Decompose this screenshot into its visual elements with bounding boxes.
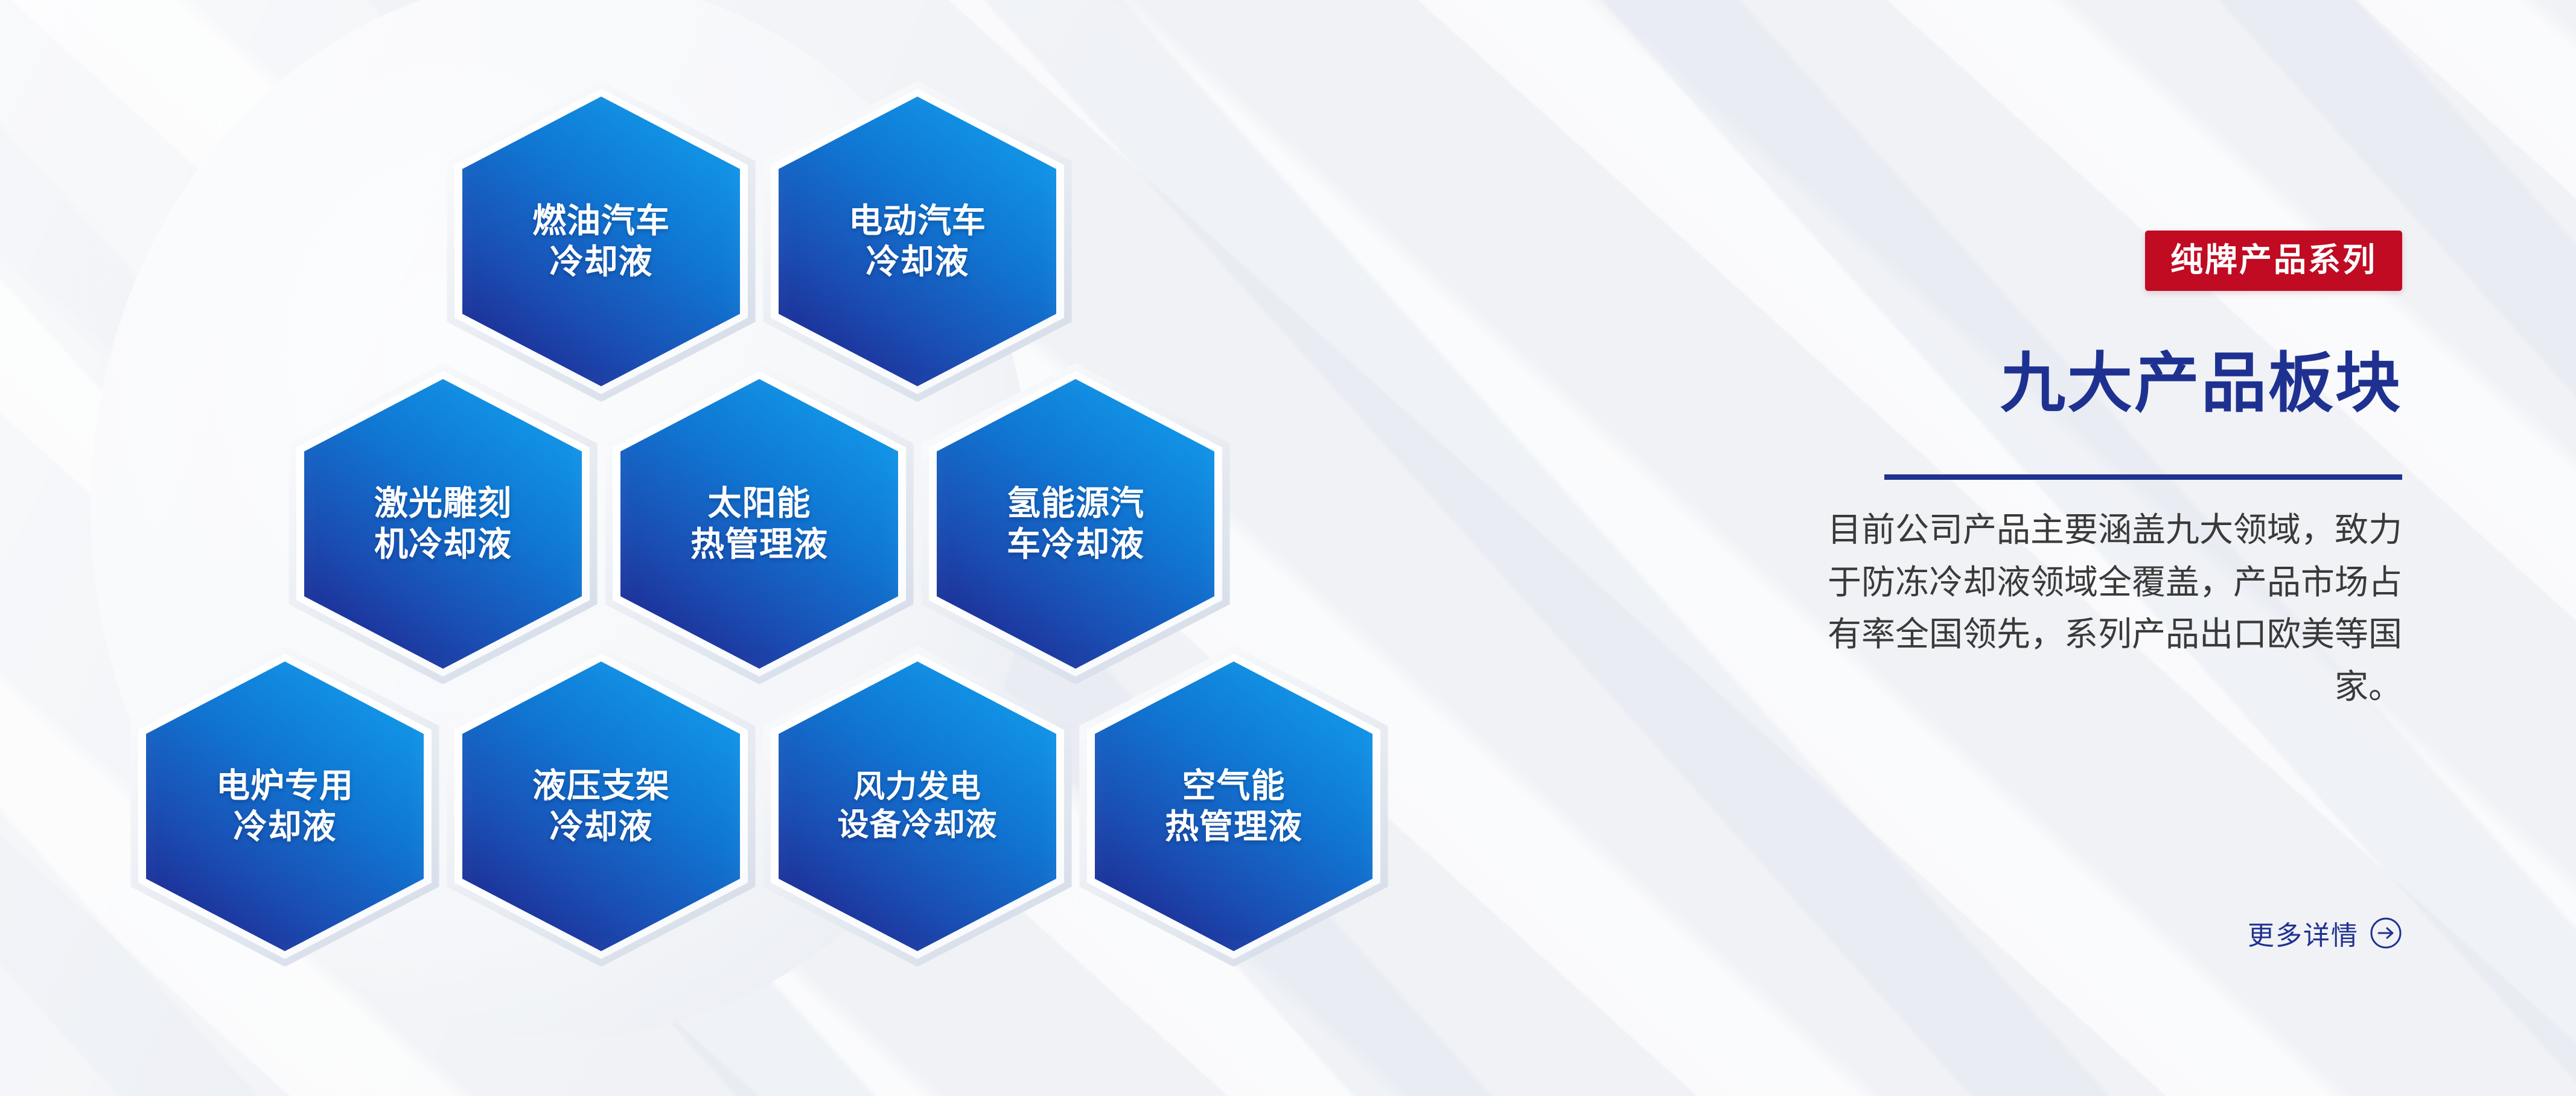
hex-tile-fuel-vehicle-coolant[interactable]: 燃油汽车 冷却液 <box>462 97 740 386</box>
more-details-label: 更多详情 <box>2248 914 2359 952</box>
hex-label: 空气能 热管理液 <box>1154 765 1313 848</box>
hex-label: 风力发电 设备冷却液 <box>826 768 1008 845</box>
hex-tile-hydrogen-vehicle-coolant[interactable]: 氢能源汽 车冷却液 <box>937 379 1214 669</box>
hex-label: 太阳能 热管理液 <box>680 483 839 566</box>
hex-tile-air-source-thermal-fluid[interactable]: 空气能 热管理液 <box>1095 661 1372 951</box>
hex-tile-wind-power-equipment-coolant[interactable]: 风力发电 设备冷却液 <box>779 661 1056 951</box>
hex-label: 激光雕刻 机冷却液 <box>363 483 523 566</box>
arrow-right-circle-icon <box>2370 917 2402 949</box>
info-panel: 纯牌产品系列 九大产品板块 目前公司产品主要涵盖九大领域，致力于防冻冷却液领域全… <box>1497 0 2402 1096</box>
panel-description: 目前公司产品主要涵盖九大领域，致力于防冻冷却液领域全覆盖，产品市场占有率全国领先… <box>1799 504 2402 713</box>
hex-label: 氢能源汽 车冷却液 <box>996 483 1155 566</box>
hex-tile-electric-vehicle-coolant[interactable]: 电动汽车 冷却液 <box>779 97 1056 386</box>
product-hexagon-grid: 燃油汽车 冷却液 电动汽车 冷却液 激光雕刻 机冷却液 太阳能 热管理液 氢能源… <box>0 0 1388 1096</box>
title-underline <box>1884 474 2402 480</box>
hex-label: 液压支架 冷却液 <box>521 765 681 848</box>
hex-tile-electric-furnace-coolant[interactable]: 电炉专用 冷却液 <box>146 661 424 951</box>
hex-tile-solar-thermal-fluid[interactable]: 太阳能 热管理液 <box>620 379 898 669</box>
hex-label: 电炉专用 冷却液 <box>205 765 365 848</box>
hex-tile-hydraulic-support-coolant[interactable]: 液压支架 冷却液 <box>462 661 740 951</box>
hex-tile-laser-engraver-coolant[interactable]: 激光雕刻 机冷却液 <box>304 379 582 669</box>
page-title: 九大产品板块 <box>2000 349 2402 417</box>
hex-label: 电动汽车 冷却液 <box>838 200 997 283</box>
series-badge: 纯牌产品系列 <box>2145 231 2402 291</box>
hex-label: 燃油汽车 冷却液 <box>521 200 681 283</box>
more-details-link[interactable]: 更多详情 <box>2248 914 2402 952</box>
